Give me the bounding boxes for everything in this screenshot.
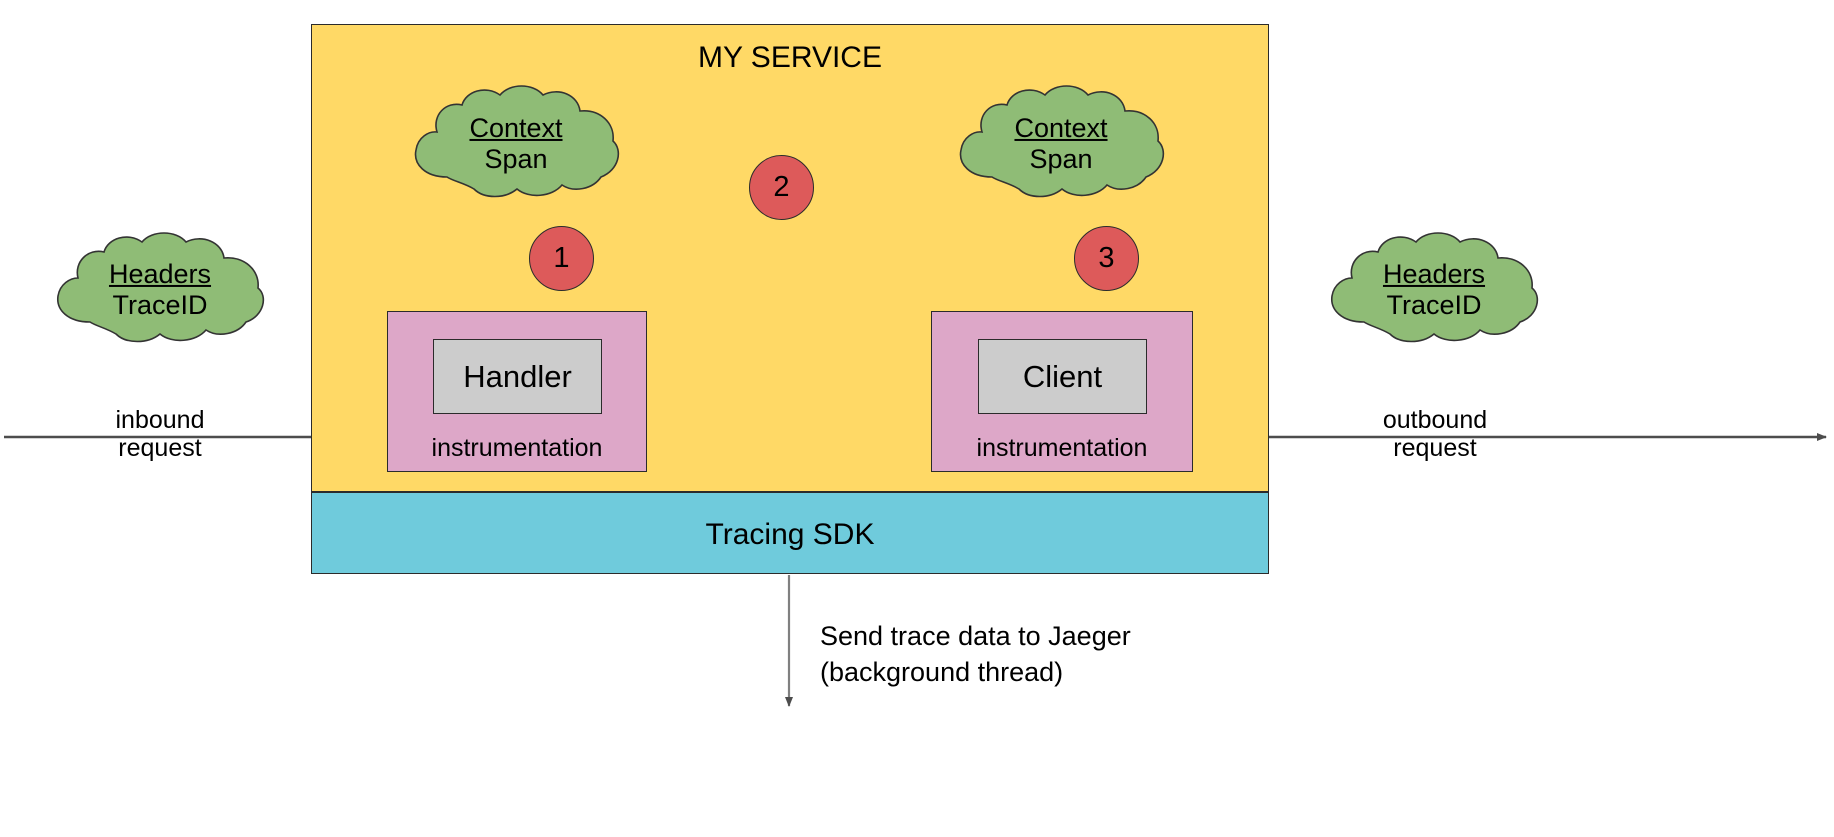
cloud-icon (1320, 230, 1548, 350)
client-instrumentation-label: instrumentation (932, 434, 1192, 463)
step-badge-1: 1 (529, 226, 594, 291)
diagram-canvas: MY SERVICE Tracing SDK instrumentation H… (0, 0, 1834, 837)
cloud-icon (46, 230, 274, 350)
step-badge-2: 2 (749, 155, 814, 220)
step-badge-3: 3 (1074, 226, 1139, 291)
handler-box: Handler (433, 339, 602, 414)
cloud-icon (950, 82, 1172, 206)
page-title: MY SERVICE (311, 41, 1269, 75)
tracing-sdk-label: Tracing SDK (311, 518, 1269, 552)
inbound-request-label: inbound request (45, 406, 275, 462)
inbound-context-cloud: Context Span (405, 82, 627, 206)
inbound-headers-cloud: Headers TraceID (46, 230, 274, 350)
handler-instrumentation-label: instrumentation (388, 434, 646, 463)
client-box: Client (978, 339, 1147, 414)
outbound-headers-cloud: Headers TraceID (1320, 230, 1548, 350)
outbound-request-label: outbound request (1320, 406, 1550, 462)
jaeger-note-label: Send trace data to Jaeger (background th… (820, 618, 1290, 691)
cloud-icon (405, 82, 627, 206)
outbound-context-cloud: Context Span (950, 82, 1172, 206)
